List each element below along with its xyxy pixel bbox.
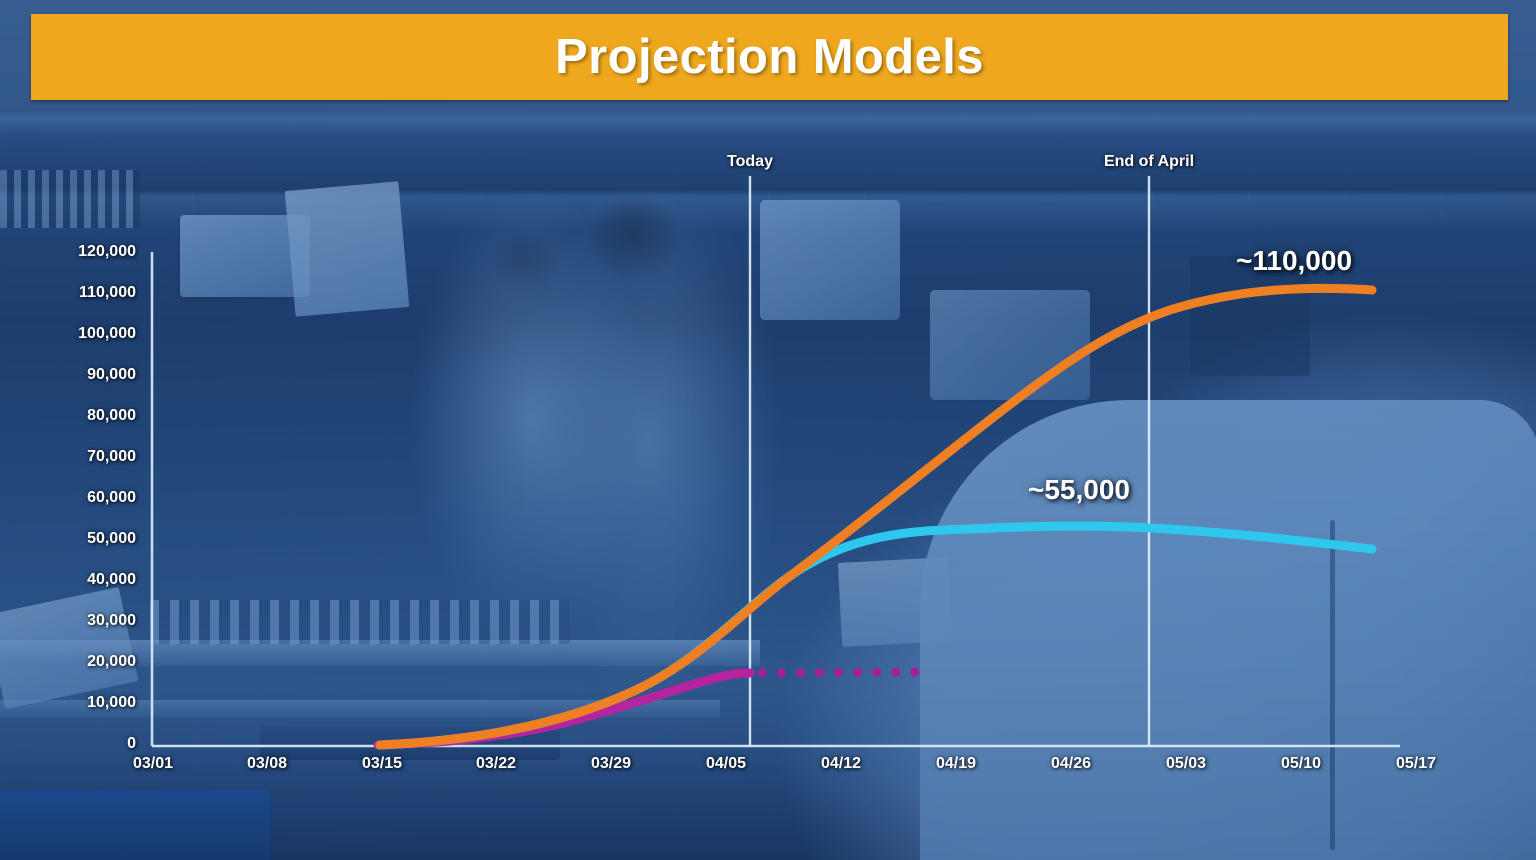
y-tick-30000: 30,000 xyxy=(10,612,136,630)
x-tick-0315: 03/15 xyxy=(334,755,430,773)
y-tick-90000: 90,000 xyxy=(10,366,136,384)
y-tick-120000: 120,000 xyxy=(10,243,136,261)
series-actual-solid xyxy=(378,673,750,745)
y-tick-110000: 110,000 xyxy=(10,284,136,302)
slide-canvas: Projection Models 120,000 110,000 100,00… xyxy=(0,0,1536,860)
x-tick-0419: 04/19 xyxy=(908,755,1004,773)
today-marker-label: Today xyxy=(670,153,830,171)
chart-plot-area xyxy=(0,0,1536,860)
x-tick-0405: 04/05 xyxy=(678,755,774,773)
series-moderate xyxy=(380,526,1372,745)
x-tick-0329: 03/29 xyxy=(563,755,659,773)
x-tick-0412: 04/12 xyxy=(793,755,889,773)
projection-chart: 120,000 110,000 100,000 90,000 80,000 70… xyxy=(0,0,1536,860)
x-tick-0322: 03/22 xyxy=(448,755,544,773)
moderate-projection-value-label: ~55,000 xyxy=(1028,474,1130,506)
x-tick-0517: 05/17 xyxy=(1368,755,1464,773)
y-tick-10000: 10,000 xyxy=(10,694,136,712)
x-tick-0510: 05/10 xyxy=(1253,755,1349,773)
x-tick-0426: 04/26 xyxy=(1023,755,1119,773)
y-tick-70000: 70,000 xyxy=(10,448,136,466)
y-tick-100000: 100,000 xyxy=(10,325,136,343)
y-tick-50000: 50,000 xyxy=(10,530,136,548)
x-tick-0301: 03/01 xyxy=(105,755,201,773)
end-of-april-marker-label: End of April xyxy=(1059,153,1239,171)
y-tick-0: 0 xyxy=(10,735,136,753)
y-tick-20000: 20,000 xyxy=(10,653,136,671)
y-tick-80000: 80,000 xyxy=(10,407,136,425)
y-tick-40000: 40,000 xyxy=(10,571,136,589)
x-tick-0308: 03/08 xyxy=(219,755,315,773)
y-tick-60000: 60,000 xyxy=(10,489,136,507)
series-actual-dotted xyxy=(762,672,916,673)
high-projection-value-label: ~110,000 xyxy=(1236,245,1352,277)
x-tick-0503: 05/03 xyxy=(1138,755,1234,773)
